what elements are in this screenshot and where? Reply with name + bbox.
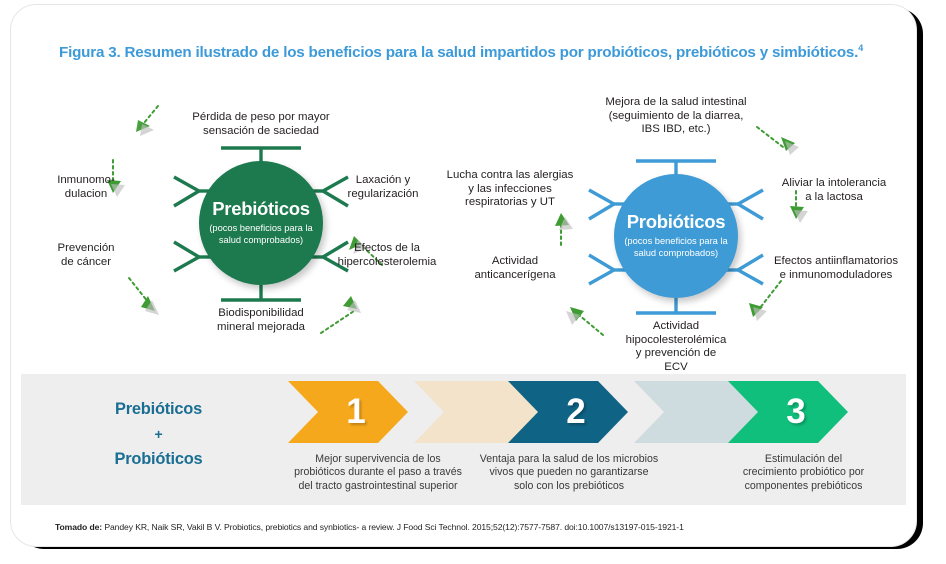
step-3-caption: Estimulación del crecimiento probiótico … — [696, 453, 911, 493]
band-label-prebioticos-probioticos: Prebióticos + Probióticos — [51, 397, 266, 472]
chevron-row: 1 2 3 — [286, 381, 917, 443]
probioticos-hub: Probióticos (pocos beneficios para la sa… — [614, 174, 738, 298]
source-citation: Tomado de: Pandey KR, Naik SR, Vakil B V… — [55, 522, 895, 532]
probioticos-hub-subtitle: (pocos beneficios para la salud comproba… — [614, 236, 738, 259]
band-label-line-1: Prebióticos — [51, 397, 266, 422]
probioticos-label-upper-right: Aliviar la intolerancia a la lactosa — [759, 177, 909, 204]
prebioticos-label-upper-left: Inmunomo- dulacion — [16, 174, 156, 201]
figure-title-superscript: 4 — [858, 43, 863, 53]
figure-card: Figura 3. Resumen ilustrado de los benef… — [10, 4, 917, 547]
page-title: Figura 3. Resumen ilustrado de los benef… — [59, 43, 889, 61]
band-label-plus: + — [51, 422, 266, 447]
step-1-caption: Mejor supervivencia de los probióticos d… — [273, 453, 483, 493]
probioticos-label-bottom: Actividad hipocolesterolémica y prevenci… — [601, 320, 751, 374]
source-prefix: Tomado de: — [55, 522, 102, 532]
figure-title-text: Figura 3. Resumen ilustrado de los benef… — [59, 44, 858, 61]
steps-flow: 1 2 3 Mejor supervivencia de los probiót… — [286, 381, 917, 501]
probioticos-hub-title: Probióticos — [627, 213, 725, 232]
probioticos-label-top: Mejora de la salud intestinal (seguimien… — [571, 96, 781, 137]
chevron-1-number: 1 — [288, 381, 408, 443]
chevron-2-number: 2 — [508, 381, 628, 443]
prebioticos-label-lower-left: Prevención de cáncer — [16, 242, 156, 269]
figure-container: Figura 3. Resumen ilustrado de los benef… — [0, 0, 946, 564]
prebioticos-label-bottom: Biodisponibilidad mineral mejorada — [171, 307, 351, 334]
chevron-3-number: 3 — [728, 381, 848, 443]
prebioticos-label-top: Pérdida de peso por mayor sensación de s… — [159, 111, 363, 138]
prebioticos-hub-title: Prebióticos — [212, 200, 309, 219]
figure-title-row: Figura 3. Resumen ilustrado de los benef… — [59, 43, 889, 61]
wheel-probioticos: Probióticos (pocos beneficios para la sa… — [451, 85, 911, 370]
wheel-prebioticos: Prebióticos (pocos beneficios para la sa… — [66, 85, 456, 370]
band-label-line-2: Probióticos — [51, 447, 266, 472]
probioticos-label-upper-left: Lucha contra las alergias y las infeccio… — [427, 169, 593, 210]
source-text: Pandey KR, Naik SR, Vakil B V. Probiotic… — [104, 522, 683, 532]
diagram-area: Prebióticos (pocos beneficios para la sa… — [11, 85, 916, 370]
probioticos-label-lower-left: Actividad anticancerígena — [445, 255, 585, 282]
step-2-caption: Ventaja para la salud de los microbios v… — [458, 453, 680, 493]
probioticos-label-lower-right: Efectos antiinflamatorios e inmunomodula… — [751, 255, 917, 282]
